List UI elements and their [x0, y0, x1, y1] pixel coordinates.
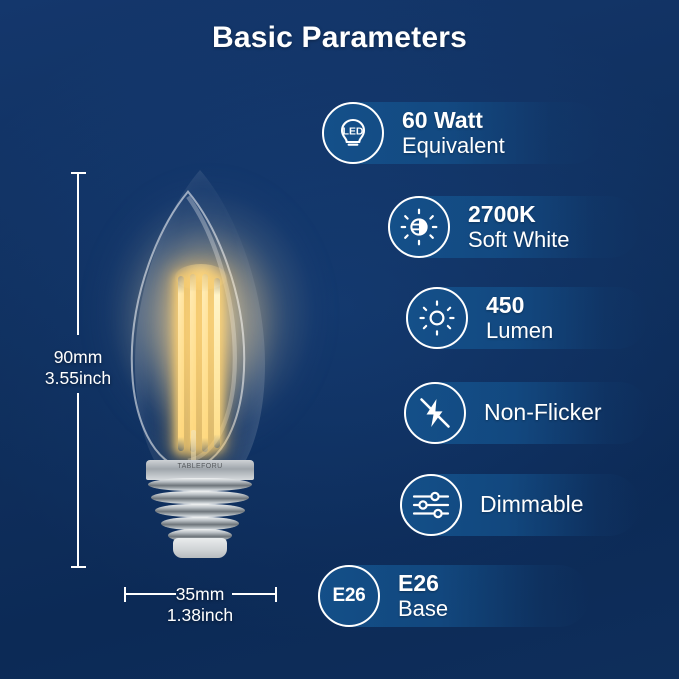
parameter-sub-value: Equivalent [402, 134, 505, 159]
parameter-sub-value: Soft White [468, 228, 569, 253]
parameter-row-non-flicker[interactable]: Non-Flicker [404, 382, 602, 444]
parameter-row-wattage[interactable]: LED 60 Watt Equivalent [322, 102, 505, 164]
led-bulb-icon: LED [322, 102, 384, 164]
parameter-sub-value: Dimmable [480, 492, 584, 518]
parameter-labels: E26 Base [398, 571, 448, 621]
product-infographic: Basic Parameters TABLEFORU [0, 0, 679, 679]
parameter-main-value: 2700K [468, 202, 569, 228]
parameter-list: LED 60 Watt Equivalent [0, 0, 679, 679]
parameter-sub-value: Non-Flicker [484, 400, 602, 426]
parameter-labels: Non-Flicker [484, 400, 602, 426]
e26-icon-label: E26 [333, 585, 366, 607]
parameter-labels: 450 Lumen [486, 293, 553, 343]
brightness-sun-icon [406, 287, 468, 349]
parameter-labels: 60 Watt Equivalent [402, 108, 505, 158]
no-flicker-icon [404, 382, 466, 444]
parameter-main-value: E26 [398, 571, 448, 597]
dimmable-sliders-icon [400, 474, 462, 536]
parameter-row-color-temperature[interactable]: 2700K Soft White [388, 196, 569, 258]
parameter-main-value: 60 Watt [402, 108, 505, 134]
color-temperature-icon [388, 196, 450, 258]
parameter-sub-value: Lumen [486, 319, 553, 344]
parameter-sub-value: Base [398, 597, 448, 622]
parameter-row-base-type[interactable]: E26 E26 Base [318, 565, 448, 627]
e26-base-icon: E26 [318, 565, 380, 627]
parameter-labels: 2700K Soft White [468, 202, 569, 252]
parameter-main-value: 450 [486, 293, 553, 319]
parameter-row-dimmable[interactable]: Dimmable [400, 474, 584, 536]
parameter-labels: Dimmable [480, 492, 584, 518]
parameter-row-lumen[interactable]: 450 Lumen [406, 287, 553, 349]
svg-text:LED: LED [343, 126, 364, 137]
